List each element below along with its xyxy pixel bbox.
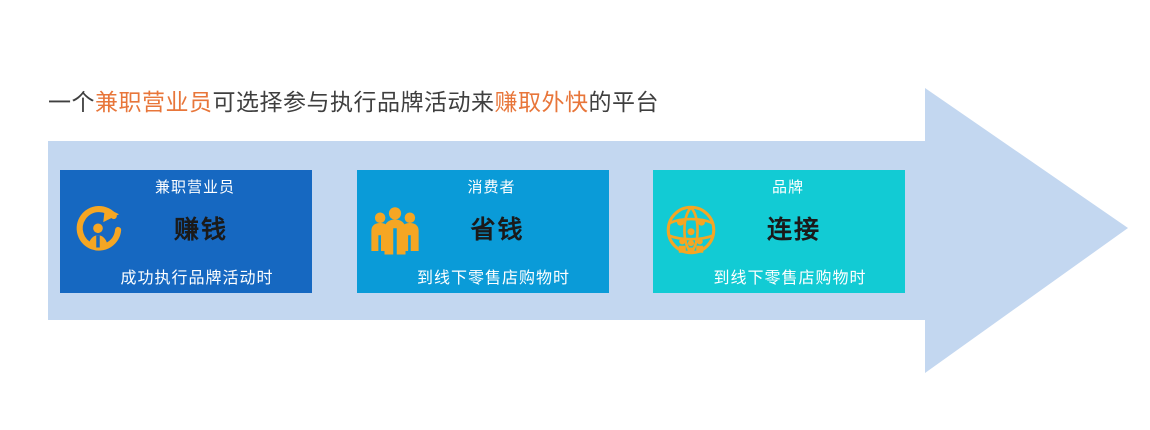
- card-brand[interactable]: 品牌 连接 到线下零售店购物时: [653, 170, 905, 293]
- card-main-label: 省钱: [357, 210, 609, 246]
- card-main-label: 连接: [653, 210, 905, 246]
- headline-segment-1: 一个: [48, 90, 95, 116]
- headline-segment-5: 的平台: [589, 90, 660, 116]
- headline-segment-4-accent: 赚取外快: [495, 90, 589, 116]
- card-part-time-staff[interactable]: 兼职营业员 赚钱 成功执行品牌活动时: [60, 170, 312, 293]
- card-main-label: 赚钱: [60, 210, 312, 246]
- card-header: 消费者: [357, 176, 609, 197]
- headline-segment-3: 可选择参与执行品牌活动来: [213, 90, 495, 116]
- card-footer-label: 成功执行品牌活动时: [60, 264, 312, 288]
- card-footer-label: 到线下零售店购物时: [653, 264, 905, 288]
- card-row: 兼职营业员 赚钱 成功执行品牌活动时 消费者: [60, 170, 905, 293]
- card-header: 品牌: [653, 176, 905, 197]
- card-header: 兼职营业员: [60, 176, 312, 197]
- page-title: 一个兼职营业员可选择参与执行品牌活动来赚取外快的平台: [48, 88, 659, 118]
- card-consumer[interactable]: 消费者 省钱 到线下零售店购物时: [357, 170, 609, 293]
- headline-segment-2-accent: 兼职营业员: [95, 90, 213, 116]
- card-footer-label: 到线下零售店购物时: [357, 264, 609, 288]
